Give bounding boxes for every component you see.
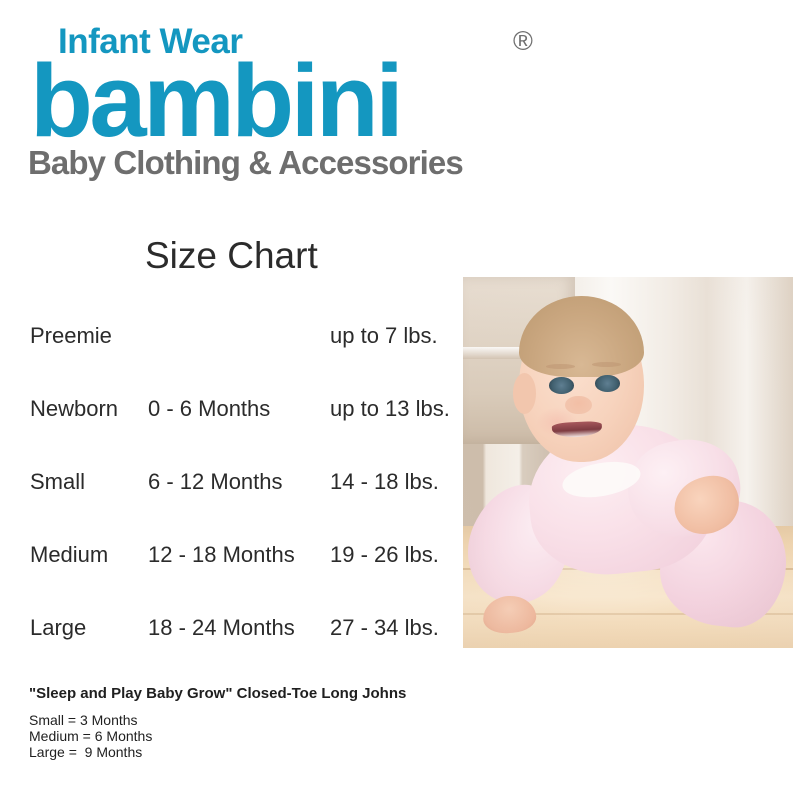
table-row: Newborn 0 - 6 Months up to 13 lbs.: [0, 383, 460, 456]
logo-tagline-bottom: Baby Clothing & Accessories: [28, 146, 463, 179]
size-chart-page: { "brand": { "tagline_top": "Infant Wear…: [0, 0, 800, 800]
table-row: Medium 12 - 18 Months 19 - 26 lbs.: [0, 529, 460, 602]
baby-photo: [463, 277, 793, 648]
cell-age: 18 - 24 Months: [148, 615, 295, 641]
registered-trademark-icon: ®: [513, 28, 533, 55]
footnote: "Sleep and Play Baby Grow" Closed-Toe Lo…: [29, 686, 479, 760]
size-chart-table: Preemie up to 7 lbs. Newborn 0 - 6 Month…: [0, 310, 460, 675]
cell-age: 6 - 12 Months: [148, 469, 283, 495]
footnote-lines: Small = 3 Months Medium = 6 Months Large…: [29, 712, 479, 760]
photo-vignette: [463, 277, 793, 648]
brand-logo: Infant Wear bambini ® Baby Clothing & Ac…: [0, 0, 560, 195]
cell-age: 0 - 6 Months: [148, 396, 270, 422]
cell-size: Small: [30, 469, 85, 495]
cell-age: 12 - 18 Months: [148, 542, 295, 568]
logo-wordmark: bambini: [30, 49, 400, 152]
page-title: Size Chart: [145, 237, 318, 274]
cell-size: Medium: [30, 542, 108, 568]
cell-size: Newborn: [30, 396, 118, 422]
cell-size: Large: [30, 615, 86, 641]
cell-weight: up to 7 lbs.: [330, 323, 438, 349]
table-row: Preemie up to 7 lbs.: [0, 310, 460, 383]
cell-weight: 19 - 26 lbs.: [330, 542, 439, 568]
footnote-heading: "Sleep and Play Baby Grow" Closed-Toe Lo…: [29, 686, 479, 703]
cell-weight: up to 13 lbs.: [330, 396, 450, 422]
cell-weight: 27 - 34 lbs.: [330, 615, 439, 641]
footnote-line: Large = 9 Months: [29, 744, 479, 760]
table-row: Small 6 - 12 Months 14 - 18 lbs.: [0, 456, 460, 529]
footnote-line: Medium = 6 Months: [29, 728, 479, 744]
table-row: Large 18 - 24 Months 27 - 34 lbs.: [0, 602, 460, 675]
footnote-line: Small = 3 Months: [29, 712, 479, 728]
cell-size: Preemie: [30, 323, 112, 349]
cell-weight: 14 - 18 lbs.: [330, 469, 439, 495]
